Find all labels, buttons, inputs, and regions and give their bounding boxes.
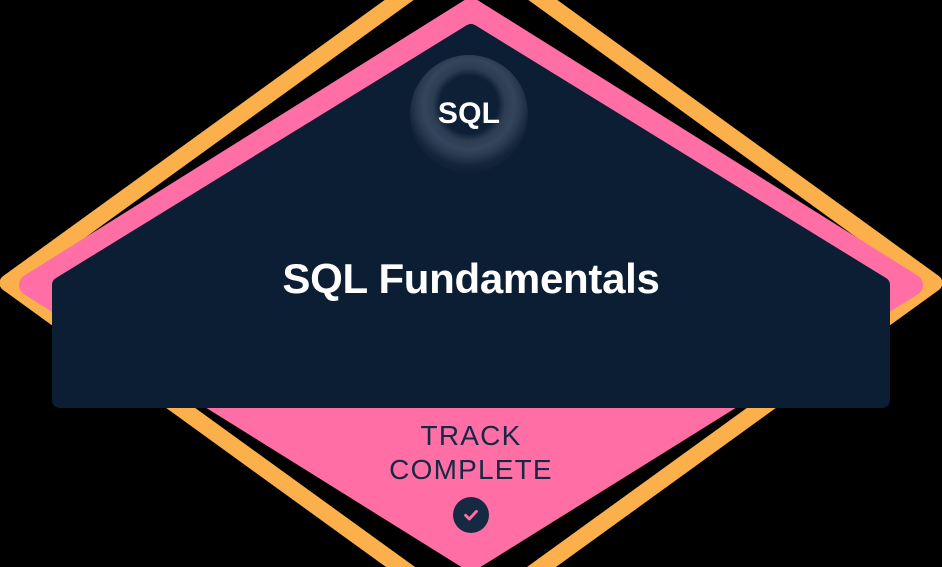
badge-shape-layers [0, 0, 942, 567]
navy-panel-fill [60, 32, 882, 400]
navy-panel [60, 32, 882, 400]
track-badge: SQL SQL Fundamentals TRACK COMPLETE [0, 0, 942, 567]
